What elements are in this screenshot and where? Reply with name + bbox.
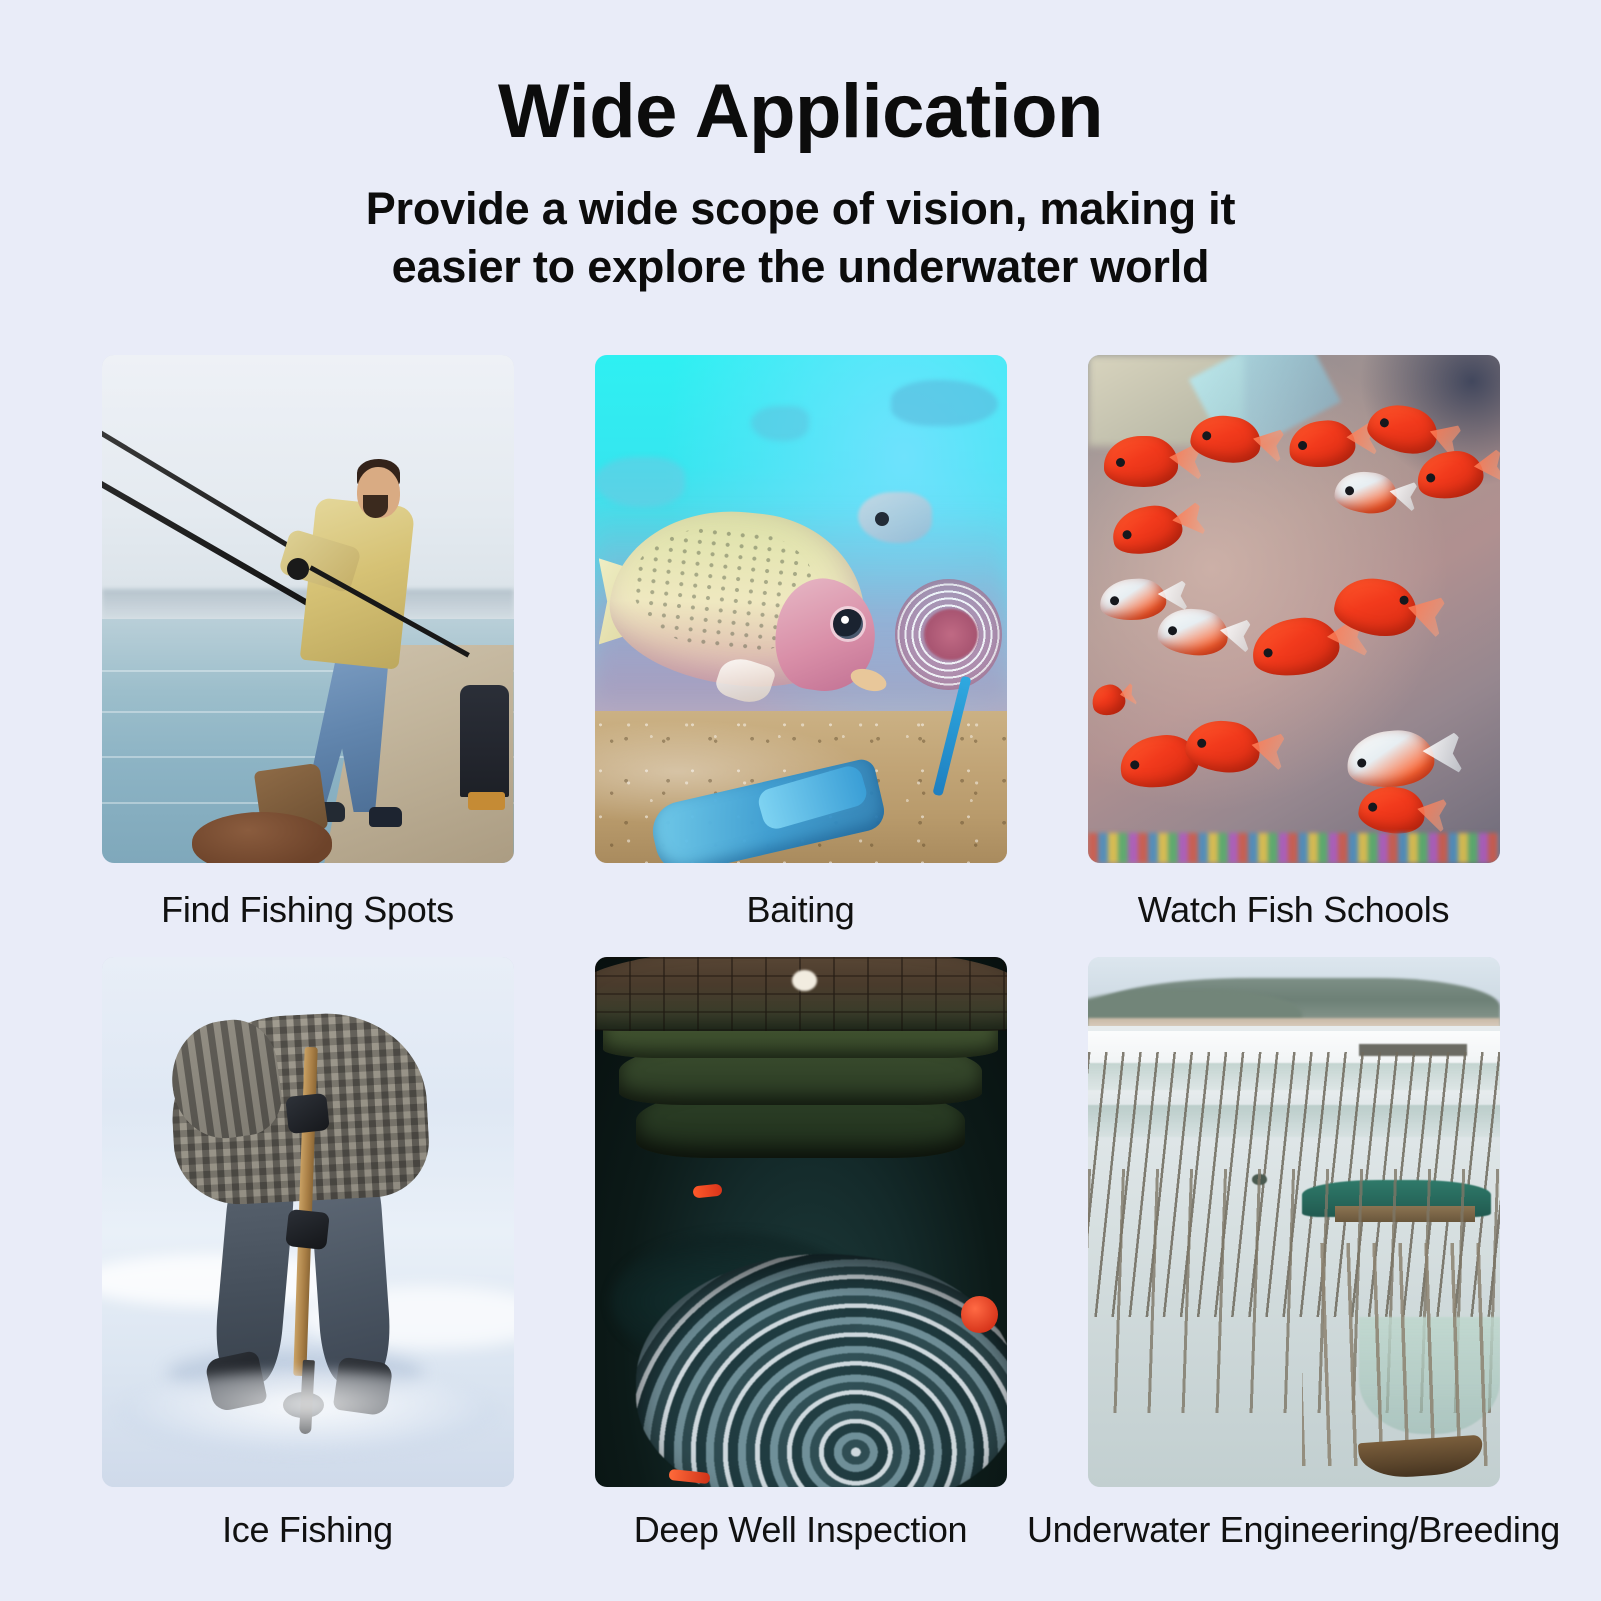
- background-person: [460, 685, 509, 797]
- gallery-row-1: Find Fishing Spots: [0, 355, 1601, 931]
- angler-shoe: [369, 807, 402, 827]
- cell-caption: Ice Fishing: [222, 1509, 393, 1551]
- gallery-cell-ice-fishing[interactable]: Ice Fishing: [102, 957, 514, 1551]
- gallery-cell-underwater-engineering[interactable]: Underwater Engineering/Breeding: [1088, 957, 1500, 1551]
- goldfish-eye: [1379, 418, 1390, 429]
- angler-beard: [363, 495, 388, 518]
- gallery-cell-baiting[interactable]: Baiting: [595, 355, 1007, 931]
- background-fish: [891, 380, 998, 426]
- goldfish-eye: [1398, 595, 1408, 605]
- colored-gravel: [1088, 833, 1500, 863]
- gallery-row-2: Ice Fishing Deep Well Inspection: [0, 957, 1601, 1551]
- goldfish-eye: [1201, 431, 1211, 441]
- background-person-boot: [468, 792, 505, 810]
- page-title: Wide Application: [0, 72, 1601, 152]
- cell-caption: Baiting: [747, 889, 855, 931]
- goldfish-eye: [1298, 441, 1308, 451]
- glove: [285, 1209, 330, 1250]
- application-gallery: Find Fishing Spots: [0, 355, 1601, 1551]
- header-block: Wide Application Provide a wide scope of…: [0, 0, 1601, 297]
- background-fish: [858, 492, 932, 543]
- goldfish-eye: [1167, 626, 1177, 636]
- goldfish-eye: [1122, 530, 1133, 541]
- gallery-cell-watch-fish-schools[interactable]: Watch Fish Schools: [1088, 355, 1500, 931]
- cell-caption: Find Fishing Spots: [161, 889, 454, 931]
- bait-cage-core: [924, 609, 978, 660]
- photo-stone-well-water: [595, 957, 1007, 1487]
- goldfish-eye: [1197, 738, 1207, 748]
- brick-texture: [595, 957, 1007, 1031]
- cell-caption: Underwater Engineering/Breeding: [1027, 1509, 1560, 1551]
- goldfish-eye: [1426, 472, 1436, 482]
- subtitle-line-2: easier to explore the underwater world: [392, 241, 1210, 292]
- photo-angler-on-pier: [102, 355, 514, 863]
- goldfish-eye: [1263, 647, 1273, 657]
- goldfish-eye: [1116, 458, 1125, 467]
- background-fish: [751, 406, 809, 442]
- foreground-rock: [192, 812, 332, 863]
- goldfish-eye: [1368, 802, 1378, 812]
- goldfish: [1104, 436, 1178, 487]
- bamboo-pole-row: [1302, 1243, 1500, 1466]
- goldfish-eye: [1344, 486, 1354, 496]
- gallery-cell-deep-well-inspection[interactable]: Deep Well Inspection: [595, 957, 1007, 1551]
- snow-drift: [118, 1370, 497, 1455]
- page-subtitle: Provide a wide scope of vision, making i…: [0, 180, 1601, 297]
- goldfish-eye: [1130, 760, 1140, 770]
- photo-goldfish-school: [1088, 355, 1500, 863]
- goldfish-eye: [1110, 596, 1120, 606]
- goldfish-eye: [1357, 758, 1367, 768]
- cell-caption: Watch Fish Schools: [1138, 889, 1449, 931]
- photo-underwater-bait-cage: [595, 355, 1007, 863]
- gallery-cell-find-fishing-spots[interactable]: Find Fishing Spots: [102, 355, 514, 931]
- photo-ice-auger-drilling: [102, 957, 514, 1487]
- photo-aquaculture-nets: [1088, 957, 1500, 1487]
- glove: [285, 1093, 330, 1134]
- subtitle-line-1: Provide a wide scope of vision, making i…: [366, 183, 1236, 234]
- reel-icon: [287, 558, 309, 580]
- cell-caption: Deep Well Inspection: [634, 1509, 968, 1551]
